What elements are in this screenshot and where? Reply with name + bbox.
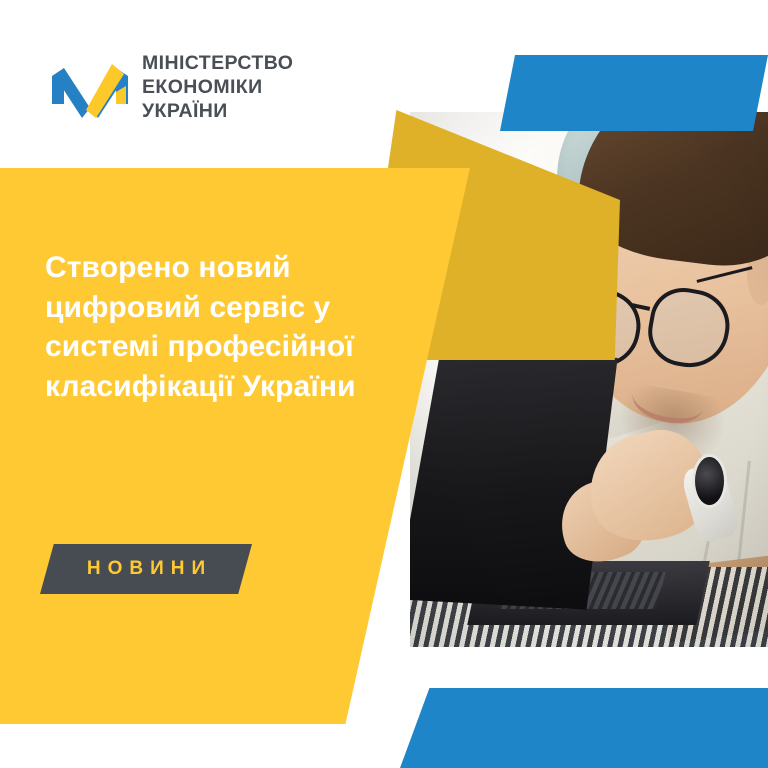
news-card: МІНІСТЕРСТВО ЕКОНОМІКИ УКРАЇНИ Створено … [0, 0, 768, 768]
badge-label: НОВИНИ [80, 558, 212, 580]
logo-line-2: ЕКОНОМІКИ [142, 77, 293, 99]
status-badge[interactable]: НОВИНИ [40, 544, 252, 594]
logo-line-3: УКРАЇНИ [142, 101, 293, 123]
ministry-m-chevron-logo-icon [52, 52, 128, 124]
logo-line-1: МІНІСТЕРСТВО [142, 53, 293, 75]
ministry-logo[interactable]: МІНІСТЕРСТВО ЕКОНОМІКИ УКРАЇНИ [52, 52, 293, 124]
ministry-logo-text: МІНІСТЕРСТВО ЕКОНОМІКИ УКРАЇНИ [142, 53, 293, 122]
blue-top-parallelogram [500, 55, 768, 131]
blue-bottom-parallelogram [400, 688, 768, 768]
page-title: Створено новий цифровий сервіс у системі… [45, 248, 425, 406]
